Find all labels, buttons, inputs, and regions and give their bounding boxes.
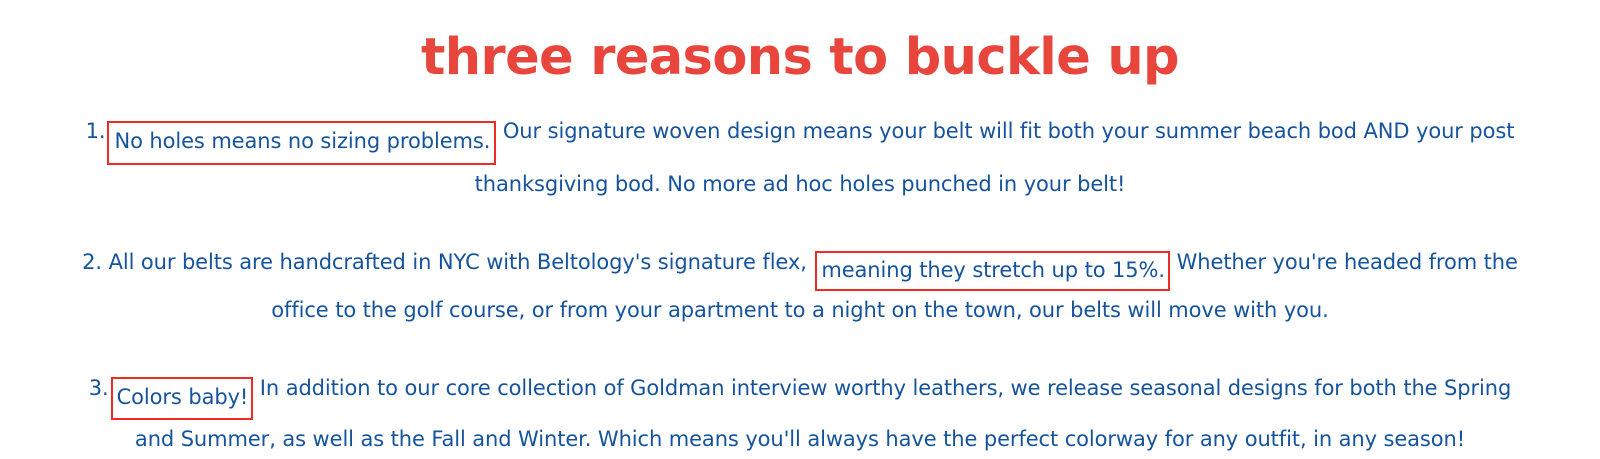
- reason-item-3: 3.Colors baby! In addition to our core c…: [80, 369, 1520, 459]
- reason-item-1: 1.No holes means no sizing problems. Our…: [80, 112, 1520, 204]
- annotation-box-2: meaning they stretch up to 15%.: [815, 251, 1170, 291]
- reason-3-number: 3.: [89, 376, 109, 400]
- reason-2-number: 2.: [82, 250, 108, 274]
- annotation-box-3: Colors baby!: [111, 377, 254, 420]
- reason-1-number: 1.: [86, 119, 106, 143]
- annotation-box-1: No holes means no sizing problems.: [107, 121, 496, 165]
- page-root: three reasons to buckle up 1.No holes me…: [0, 0, 1600, 448]
- reasons-list: 1.No holes means no sizing problems. Our…: [80, 112, 1520, 459]
- reason-2-text-before: All our belts are handcrafted in NYC wit…: [109, 250, 814, 274]
- page-title: three reasons to buckle up: [0, 22, 1600, 94]
- reason-item-2: 2. All our belts are handcrafted in NYC …: [80, 243, 1520, 330]
- reason-1-text: Our signature woven design means your be…: [475, 119, 1515, 196]
- reason-3-text: In addition to our core collection of Go…: [135, 376, 1511, 451]
